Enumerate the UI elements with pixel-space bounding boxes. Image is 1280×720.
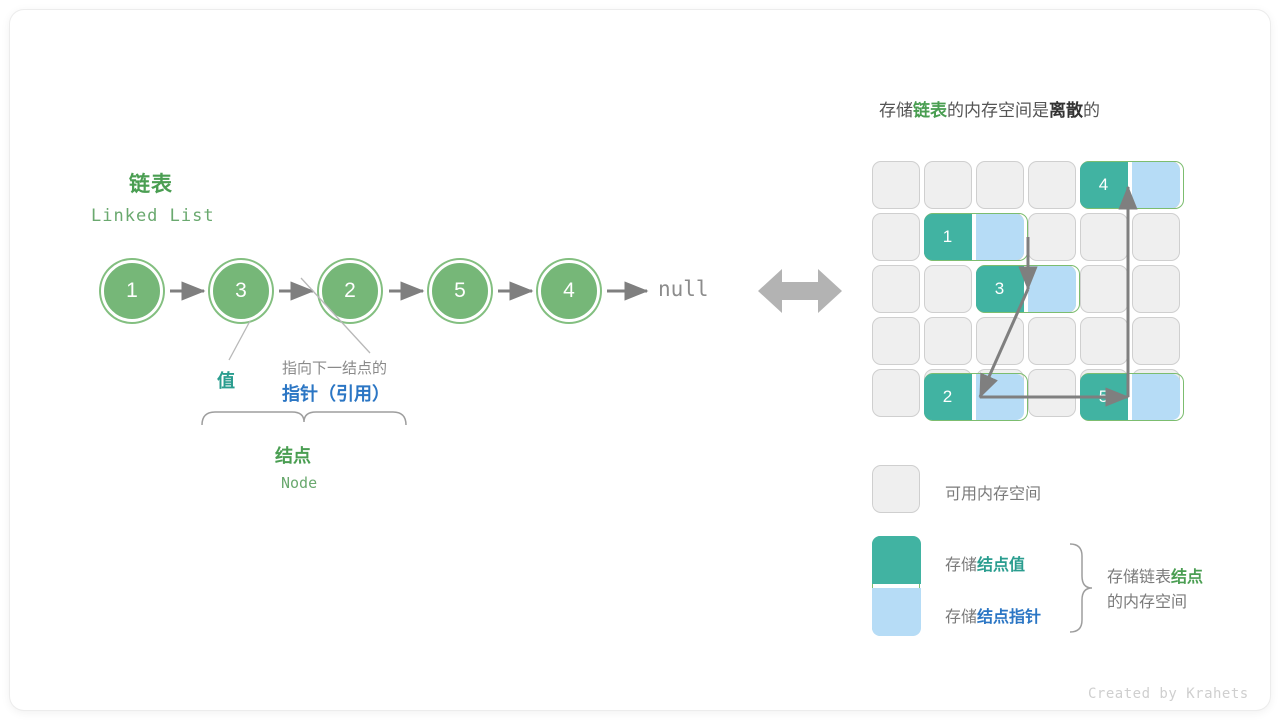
memory-cell-r1-c2 (924, 161, 972, 209)
memory-cell-r1-c3 (976, 161, 1024, 209)
memory-node-4-value: 4 (1080, 162, 1128, 208)
memory-node-4-pointer (1132, 162, 1180, 208)
memory-node-5: 5 (1080, 373, 1184, 421)
memory-node-2-value: 2 (924, 374, 972, 420)
legend-free-swatch (872, 465, 920, 513)
legend-pointer-label: 存储结点指针 (945, 603, 1041, 627)
memory-cell-r2-c5 (1080, 213, 1128, 261)
legend-free-label: 可用内存空间 (945, 480, 1041, 504)
memory-cell-r4-c2 (924, 317, 972, 365)
memory-cell-r1-c1 (872, 161, 920, 209)
legend-node-swatch (872, 536, 920, 636)
memory-node-4: 4 (1080, 161, 1184, 209)
legend-pointer-swatch (872, 588, 921, 636)
memory-cell-r3-c6 (1132, 265, 1180, 313)
memory-cell-r2-c4 (1028, 213, 1076, 261)
diagram-card: 链表 Linked List 1 3 2 5 4 null 值 指向 (10, 10, 1270, 710)
memory-cell-r4-c5 (1080, 317, 1128, 365)
legend-value-prefix: 存储 (945, 557, 977, 574)
memory-cell-r4-c4 (1028, 317, 1076, 365)
memory-node-3-pointer (1028, 266, 1076, 312)
legend-value-label: 存储结点值 (945, 551, 1025, 575)
legend-pointer-strong: 结点指针 (977, 609, 1041, 626)
memory-node-5-pointer (1132, 374, 1180, 420)
memory-node-3: 3 (976, 265, 1080, 313)
memory-node-1-value: 1 (924, 214, 972, 260)
memory-cell-r5-c4 (1028, 369, 1076, 417)
memory-cell-r3-c5 (1080, 265, 1128, 313)
memory-node-1-pointer (976, 214, 1024, 260)
memory-node-5-value: 5 (1080, 374, 1128, 420)
memory-cell-r5-c1 (872, 369, 920, 417)
memory-cell-r4-c3 (976, 317, 1024, 365)
legend-group-prefix: 存储链表 (1107, 569, 1171, 586)
memory-grid (10, 10, 1270, 710)
legend-value-strong: 结点值 (977, 557, 1025, 574)
legend-pointer-prefix: 存储 (945, 609, 977, 626)
memory-cell-r3-c1 (872, 265, 920, 313)
credit-label: Created by Krahets (1088, 686, 1249, 702)
memory-node-1: 1 (924, 213, 1028, 261)
memory-node-2: 2 (924, 373, 1028, 421)
memory-node-2-pointer (976, 374, 1024, 420)
legend-group-strong: 结点 (1171, 569, 1203, 586)
legend-group-label: 存储链表结点的内存空间 (1107, 565, 1203, 615)
memory-cell-r4-c1 (872, 317, 920, 365)
legend-group-line2: 的内存空间 (1107, 594, 1187, 611)
memory-cell-r1-c4 (1028, 161, 1076, 209)
memory-cell-r2-c1 (872, 213, 920, 261)
legend-value-swatch (872, 536, 921, 584)
memory-node-3-value: 3 (976, 266, 1024, 312)
memory-cell-r2-c6 (1132, 213, 1180, 261)
memory-cell-r3-c2 (924, 265, 972, 313)
memory-cell-r4-c6 (1132, 317, 1180, 365)
